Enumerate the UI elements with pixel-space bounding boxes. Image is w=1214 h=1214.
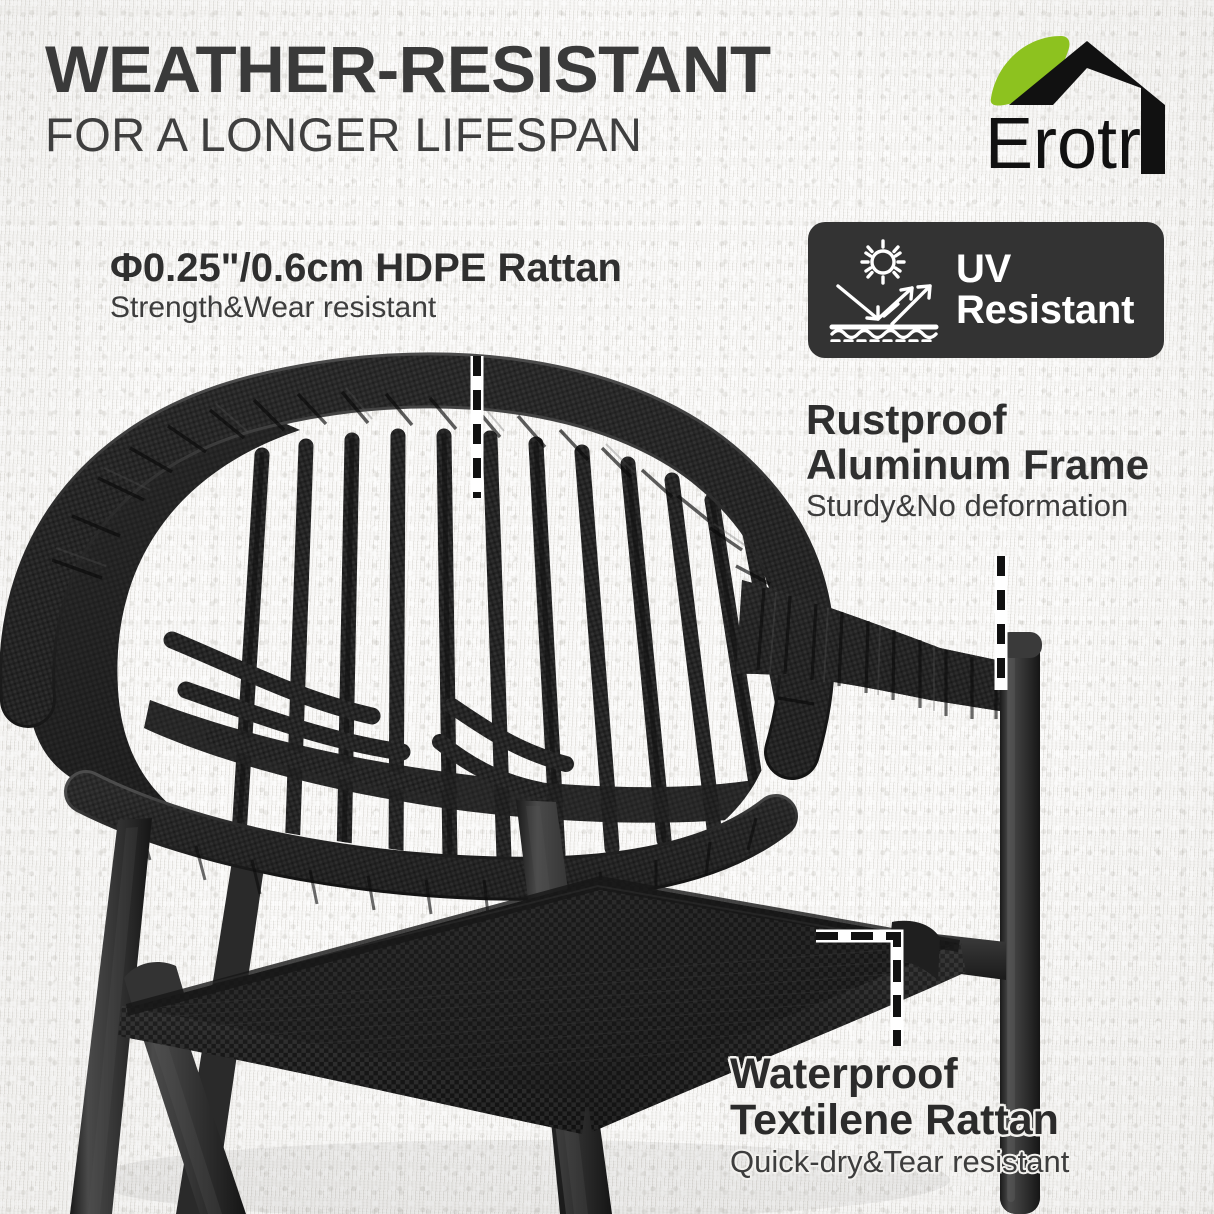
callout-textilene-title-line1: Waterproof [730,1052,1069,1098]
callout-frame-title-line2: Aluminum Frame [806,443,1149,488]
callout-textilene-title-line2: Textilene Rattan [730,1098,1069,1144]
callout-rattan-subtitle: Strength&Wear resistant [110,291,622,325]
callout-frame-title-line1: Rustproof [806,398,1149,443]
callout-textilene-rattan: Waterproof Textilene Rattan Quick-dry&Te… [730,1052,1069,1180]
callout-hdpe-rattan: Φ0.25"/0.6cm HDPE Rattan Strength&Wear r… [110,247,622,325]
callout-textilene-subtitle: Quick-dry&Tear resistant [730,1145,1069,1180]
callout-rattan-title: Φ0.25"/0.6cm HDPE Rattan [110,247,622,289]
callout-aluminum-frame: Rustproof Aluminum Frame Sturdy&No defor… [806,398,1149,524]
callout-frame-subtitle: Sturdy&No deformation [806,489,1149,524]
infographic-canvas: WEATHER-RESISTANT FOR A LONGER LIFESPAN … [0,0,1214,1214]
callout-leader-lines [0,0,1214,1214]
